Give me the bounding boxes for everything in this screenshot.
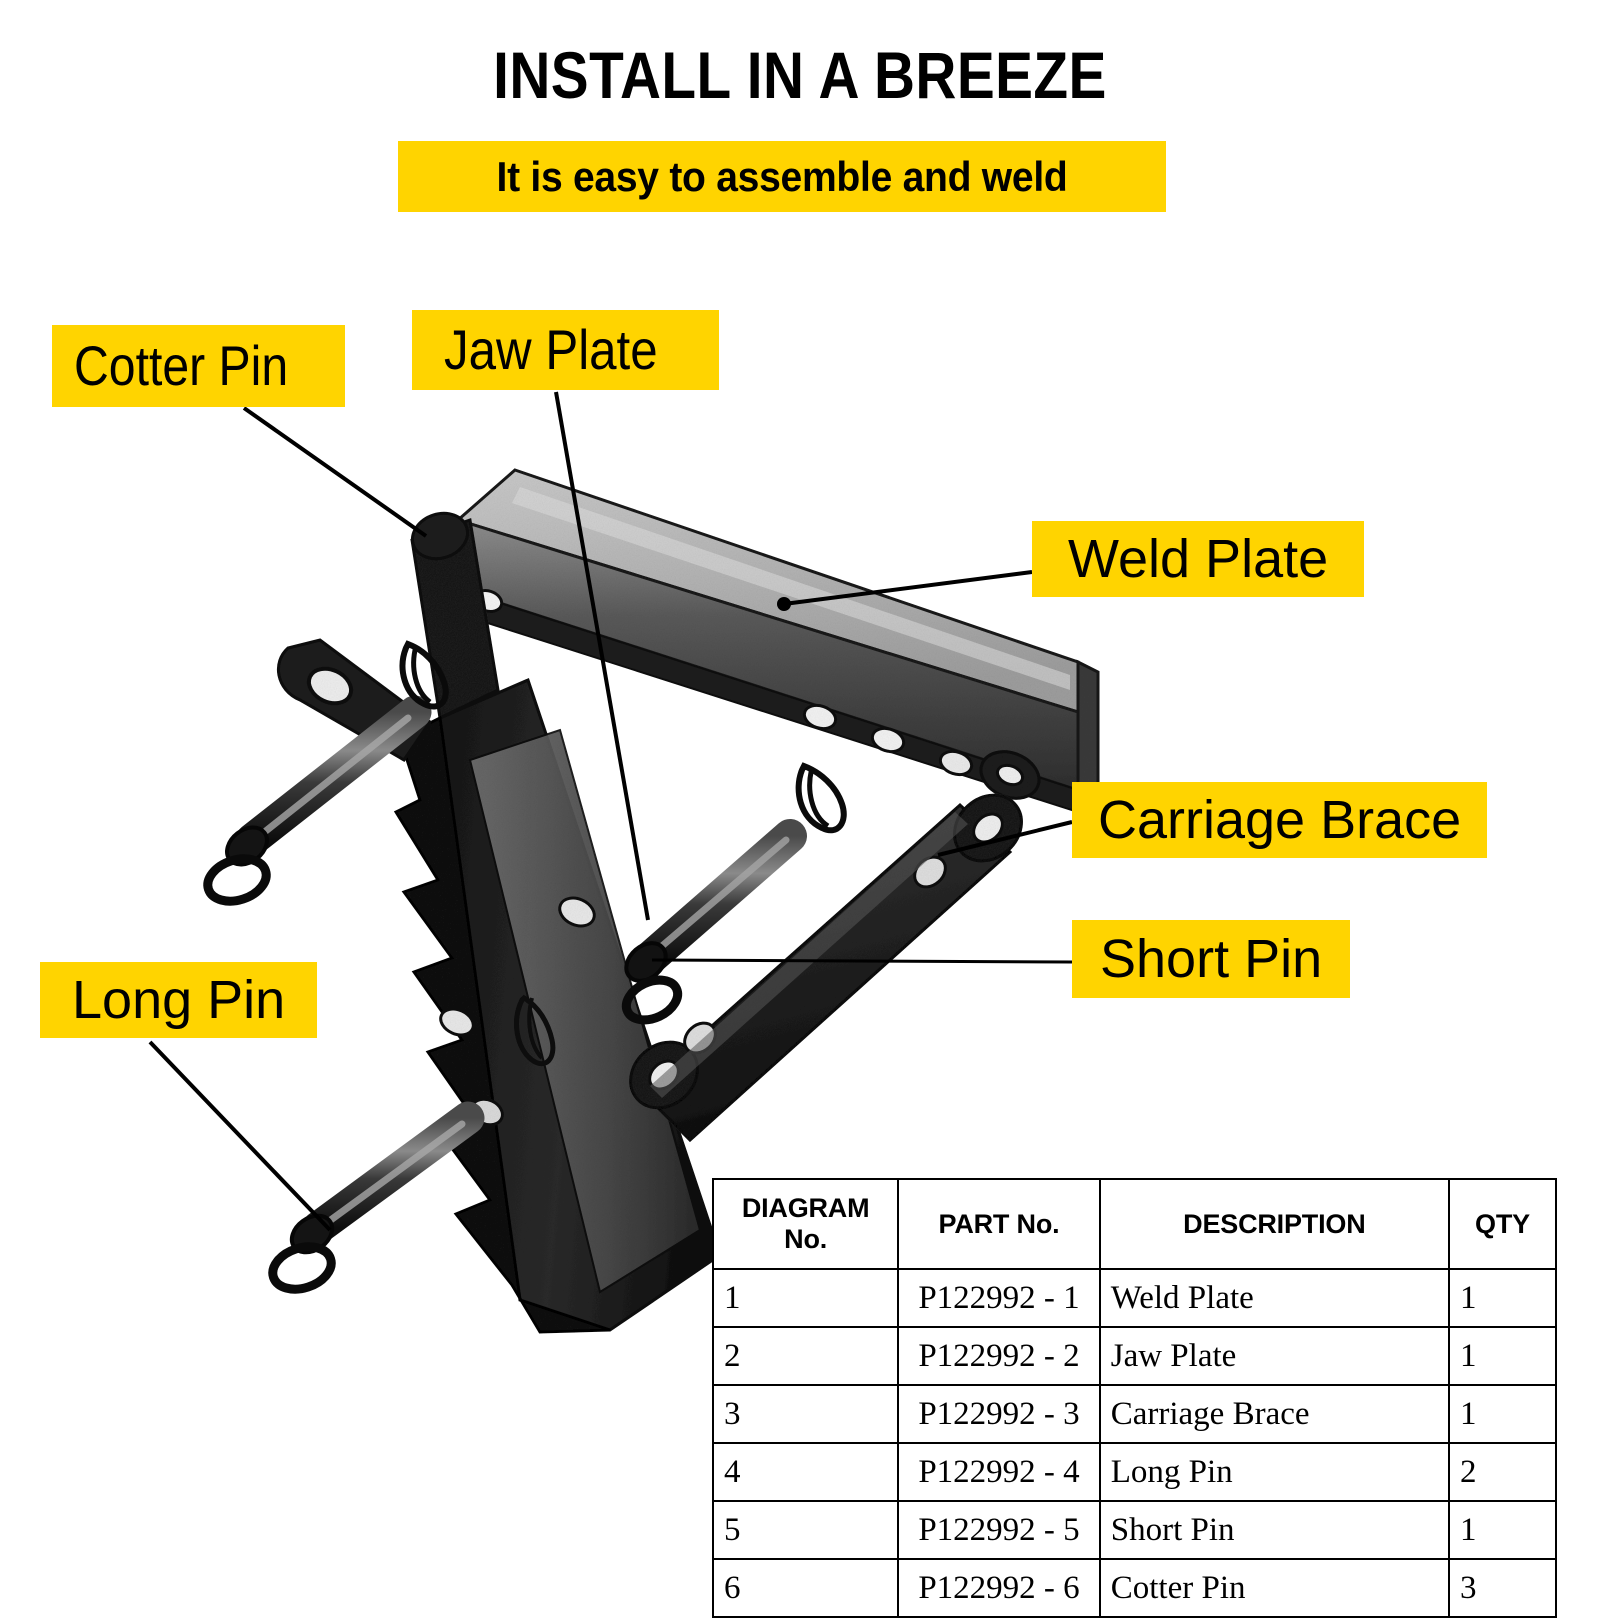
table-header-row: DIAGRAM No. PART No. DESCRIPTION QTY (713, 1179, 1556, 1269)
cell-description: Cotter Pin (1100, 1559, 1449, 1617)
callout-label-jaw-plate: Jaw Plate (444, 322, 658, 378)
cell-diagram-no: 3 (713, 1385, 898, 1443)
callout-long-pin: Long Pin (40, 962, 317, 1038)
callout-jaw-plate: Jaw Plate (412, 310, 719, 390)
cell-qty: 1 (1449, 1327, 1556, 1385)
column-header-qty: QTY (1449, 1179, 1556, 1269)
cell-part-no: P122992 - 6 (898, 1559, 1100, 1617)
callout-cotter-pin: Cotter Pin (52, 325, 345, 407)
table-row: 2P122992 - 2Jaw Plate1 (713, 1327, 1556, 1385)
cell-qty: 1 (1449, 1501, 1556, 1559)
long-pin-part-upper (202, 712, 415, 908)
leader-long-pin (150, 1042, 330, 1230)
parts-table-body: 1P122992 - 1Weld Plate12P122992 - 2Jaw P… (713, 1269, 1556, 1617)
column-header-description: DESCRIPTION (1100, 1179, 1449, 1269)
cell-diagram-no: 2 (713, 1327, 898, 1385)
column-header-diagram-line2: No. (724, 1224, 887, 1255)
leader-dot-weld-plate (777, 597, 791, 611)
cell-diagram-no: 4 (713, 1443, 898, 1501)
callout-label-carriage-brace: Carriage Brace (1098, 793, 1461, 847)
leader-cotter-pin (244, 408, 426, 536)
cell-description: Long Pin (1100, 1443, 1449, 1501)
cell-part-no: P122992 - 2 (898, 1327, 1100, 1385)
cell-part-no: P122992 - 4 (898, 1443, 1100, 1501)
column-header-part-no: PART No. (898, 1179, 1100, 1269)
cell-description: Jaw Plate (1100, 1327, 1449, 1385)
cell-part-no: P122992 - 5 (898, 1501, 1100, 1559)
cell-qty: 2 (1449, 1443, 1556, 1501)
parts-list-table: DIAGRAM No. PART No. DESCRIPTION QTY 1P1… (712, 1178, 1557, 1618)
callout-short-pin: Short Pin (1072, 920, 1350, 998)
table-row: 5P122992 - 5Short Pin1 (713, 1501, 1556, 1559)
cell-qty: 3 (1449, 1559, 1556, 1617)
cell-diagram-no: 6 (713, 1559, 898, 1617)
column-header-diagram-line1: DIAGRAM (724, 1193, 887, 1224)
callout-label-short-pin: Short Pin (1100, 932, 1322, 986)
callout-label-long-pin: Long Pin (72, 973, 285, 1027)
callout-label-cotter-pin: Cotter Pin (74, 338, 288, 394)
cell-description: Weld Plate (1100, 1269, 1449, 1327)
cell-diagram-no: 1 (713, 1269, 898, 1327)
cell-diagram-no: 5 (713, 1501, 898, 1559)
leader-short-pin (652, 960, 1072, 962)
cell-description: Short Pin (1100, 1501, 1449, 1559)
table-row: 1P122992 - 1Weld Plate1 (713, 1269, 1556, 1327)
column-header-diagram-no: DIAGRAM No. (713, 1179, 898, 1269)
cell-qty: 1 (1449, 1385, 1556, 1443)
cell-part-no: P122992 - 1 (898, 1269, 1100, 1327)
callout-label-weld-plate: Weld Plate (1068, 532, 1328, 586)
cell-qty: 1 (1449, 1269, 1556, 1327)
cell-description: Carriage Brace (1100, 1385, 1449, 1443)
table-row: 4P122992 - 4Long Pin2 (713, 1443, 1556, 1501)
callout-carriage-brace: Carriage Brace (1072, 782, 1487, 858)
cotter-pin-part-right (799, 766, 844, 830)
long-pin-part-lower (267, 1118, 468, 1296)
cell-part-no: P122992 - 3 (898, 1385, 1100, 1443)
table-row: 6P122992 - 6Cotter Pin3 (713, 1559, 1556, 1617)
callout-weld-plate: Weld Plate (1032, 521, 1364, 597)
table-row: 3P122992 - 3Carriage Brace1 (713, 1385, 1556, 1443)
